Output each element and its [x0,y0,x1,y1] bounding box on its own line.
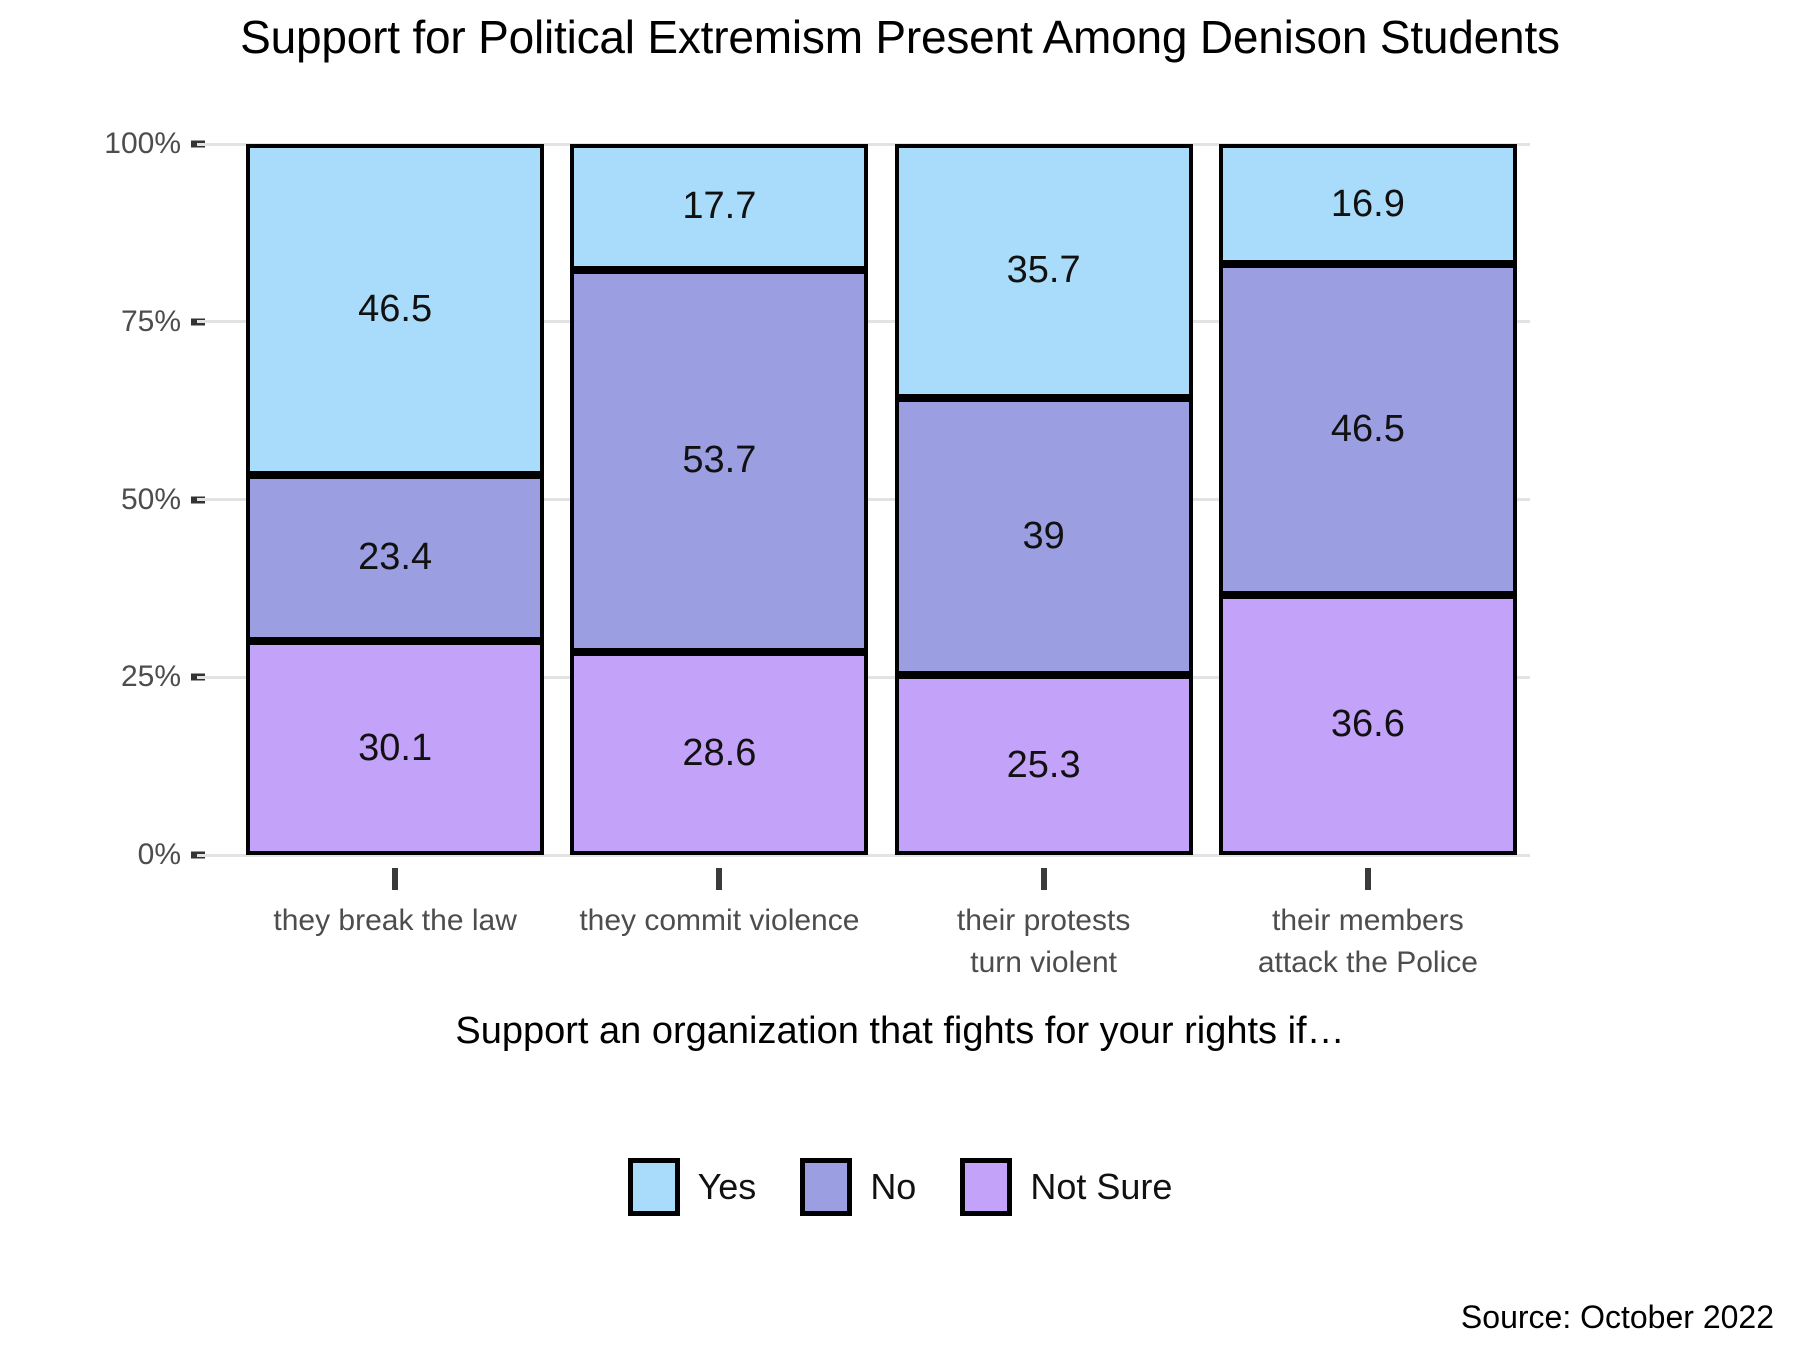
legend-item-yes[interactable]: Yes [628,1158,801,1216]
bar-segment-not-sure[interactable]: 30.1 [246,641,544,855]
bar-group: 25.33935.7 [895,144,1193,855]
bar-segment-yes[interactable]: 17.7 [570,144,868,270]
bar-value-label: 35.7 [1007,249,1081,292]
source-note: Source: October 2022 [1461,1299,1774,1336]
bar-segment-yes[interactable]: 35.7 [895,144,1193,398]
x-tick-mark [716,868,722,890]
x-axis-title: Support an organization that fights for … [0,1010,1800,1053]
bar-segment-not-sure[interactable]: 28.6 [570,652,868,855]
bar-value-label: 46.5 [358,288,432,331]
chart-legend: YesNoNot Sure [0,1158,1800,1216]
legend-label: No [870,1166,916,1208]
x-tick-mark [1041,868,1047,890]
bar-value-label: 28.6 [682,732,756,775]
bar-segment-no[interactable]: 53.7 [570,270,868,652]
bar-value-label: 17.7 [682,185,756,228]
x-tick-label: they commit violence [579,900,859,942]
legend-swatch [960,1158,1012,1216]
bar-value-label: 46.5 [1331,408,1405,451]
plot-area: 30.123.446.528.653.717.725.33935.736.646… [233,144,1530,855]
x-tick-label: their protests turn violent [957,900,1130,984]
bar-segment-not-sure[interactable]: 25.3 [895,675,1193,855]
bar-segment-no[interactable]: 23.4 [246,475,544,641]
legend-label: Yes [698,1166,757,1208]
bar-value-label: 30.1 [358,727,432,770]
chart-canvas: Support for Political Extremism Present … [0,0,1800,1350]
legend-label: Not Sure [1030,1166,1172,1208]
legend-item-not-sure[interactable]: Not Sure [960,1158,1172,1216]
bar-group: 30.123.446.5 [246,144,544,855]
bar-segment-no[interactable]: 39 [895,398,1193,675]
y-tick-label: 50% [121,483,181,517]
x-tick-mark [392,868,398,890]
bar-segment-not-sure[interactable]: 36.6 [1219,595,1517,855]
bar-value-label: 23.4 [358,536,432,579]
x-tick-label: their members attack the Police [1258,900,1478,984]
bar-group: 28.653.717.7 [570,144,868,855]
bar-value-label: 25.3 [1007,744,1081,787]
chart-title: Support for Political Extremism Present … [0,10,1800,64]
legend-item-no[interactable]: No [800,1158,960,1216]
x-tick-mark [1365,868,1371,890]
y-tick-label: 0% [138,838,181,872]
y-tick-label: 75% [121,305,181,339]
x-tick-label: they break the law [273,900,516,942]
legend-swatch [628,1158,680,1216]
bar-value-label: 53.7 [682,439,756,482]
bar-segment-yes[interactable]: 16.9 [1219,144,1517,264]
bar-segment-no[interactable]: 46.5 [1219,264,1517,595]
bar-value-label: 39 [1022,515,1064,558]
bar-segment-yes[interactable]: 46.5 [246,144,544,475]
bar-value-label: 36.6 [1331,703,1405,746]
bar-value-label: 16.9 [1331,183,1405,226]
y-tick-label: 25% [121,660,181,694]
legend-swatch [800,1158,852,1216]
y-tick-label: 100% [104,127,181,161]
bar-group: 36.646.516.9 [1219,144,1517,855]
